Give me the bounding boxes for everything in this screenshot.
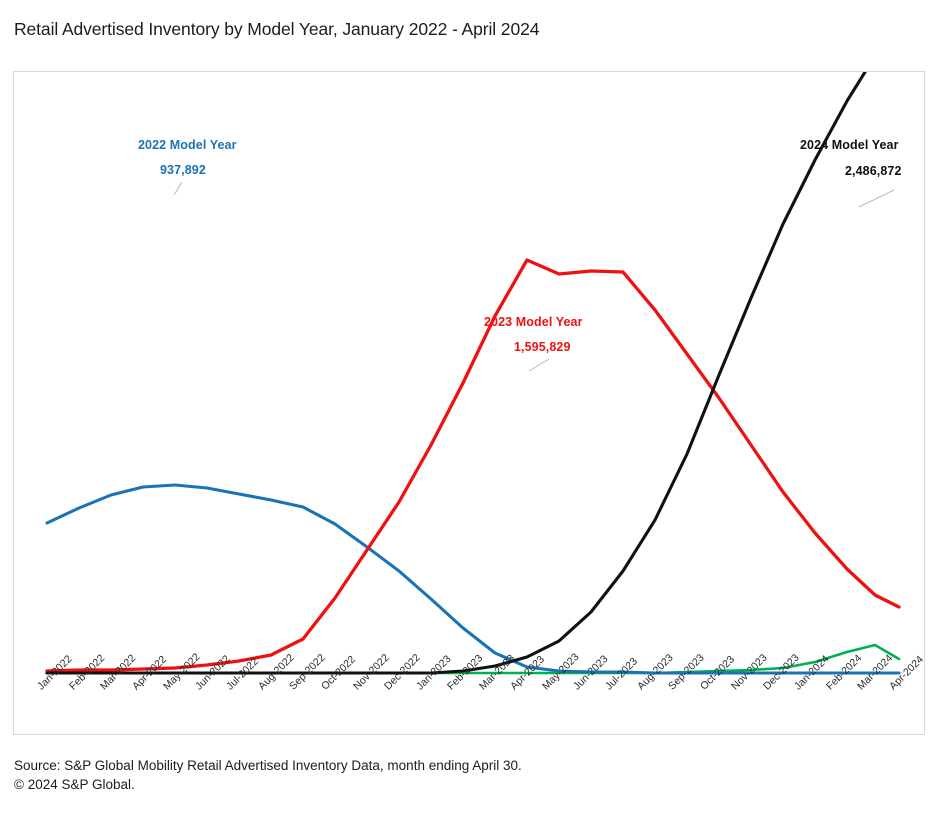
annotation-label-2023: 2023 Model Year [484, 315, 583, 329]
leader-line-2023 [529, 359, 549, 371]
leader-line-2022 [174, 182, 182, 195]
annotation-label-2024: 2024 Model Year [800, 138, 899, 152]
chart-plot-area: 2022 Model Year 937,892 2023 Model Year … [13, 71, 925, 735]
annotation-value-2023: 1,595,829 [514, 340, 571, 354]
page-title: Retail Advertised Inventory by Model Yea… [14, 19, 539, 40]
chart-svg [14, 72, 926, 736]
annotation-value-2022: 937,892 [160, 163, 206, 177]
footnote-source: Source: S&P Global Mobility Retail Adver… [14, 756, 522, 775]
annotation-label-2022: 2022 Model Year [138, 138, 237, 152]
series-line-2022 [47, 485, 899, 673]
annotation-value-2024: 2,486,872 [845, 164, 902, 178]
chart-footnote: Source: S&P Global Mobility Retail Adver… [14, 756, 522, 794]
series-line-2023 [47, 260, 899, 671]
footnote-copyright: © 2024 S&P Global. [14, 775, 522, 794]
leader-line-2024 [859, 190, 894, 207]
